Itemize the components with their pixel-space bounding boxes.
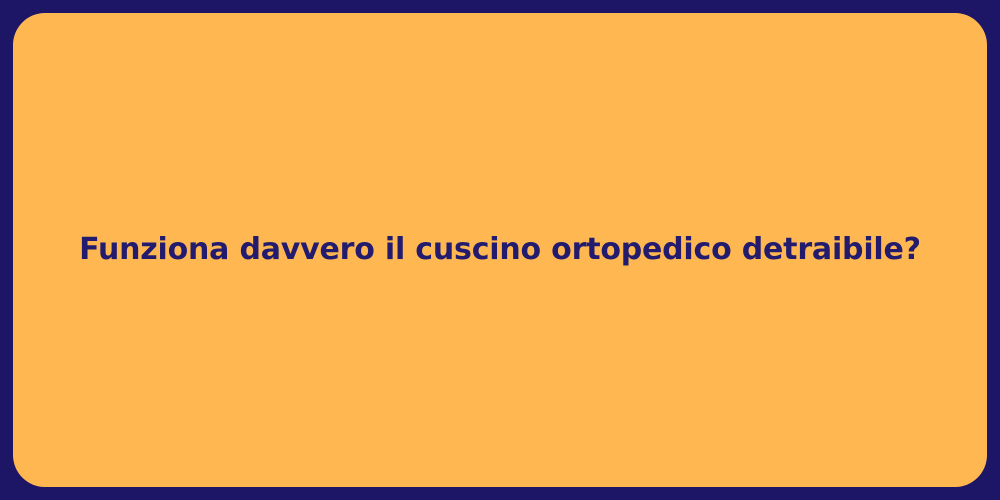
page-title: Funziona davvero il cuscino ortopedico d… [13, 231, 987, 269]
card-outer-frame: Funziona davvero il cuscino ortopedico d… [0, 0, 1000, 500]
card-panel: Funziona davvero il cuscino ortopedico d… [13, 13, 987, 487]
